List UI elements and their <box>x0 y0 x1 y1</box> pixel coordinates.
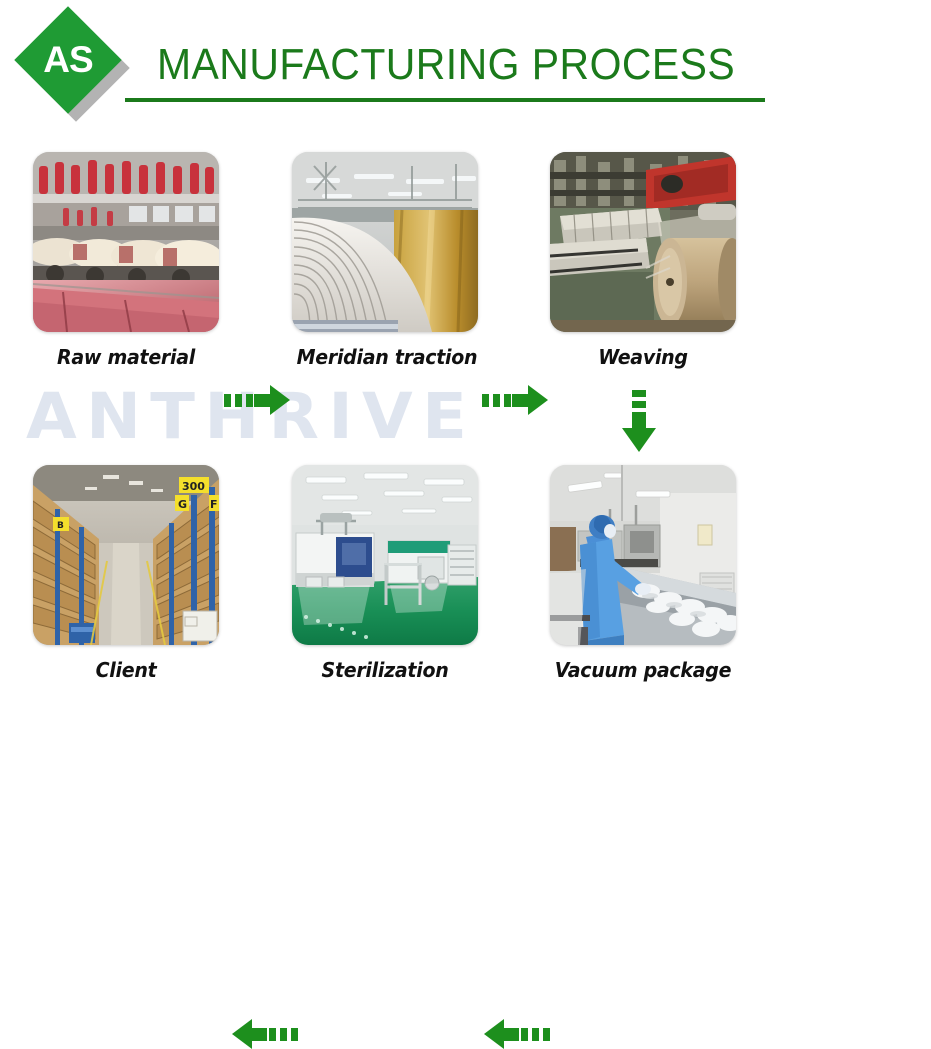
page-title: MANUFACTURING PROCESS <box>157 40 735 90</box>
yarn-spinning-machine-photo <box>33 152 219 332</box>
as-diamond-logo: AS <box>22 14 140 132</box>
process-step-vacuum-package[interactable]: Vacuum package <box>550 465 736 682</box>
arrow-dash <box>224 394 231 407</box>
svg-text:300: 300 <box>182 480 205 493</box>
fabric-drawing-roller-illustration <box>292 152 478 332</box>
arrow-dash <box>291 1028 298 1041</box>
svg-text:G: G <box>178 498 187 511</box>
arrow-dash <box>521 1028 528 1041</box>
process-step-raw-material[interactable]: Raw material <box>33 152 219 369</box>
arrow-dash <box>632 401 646 408</box>
vacuum-packing-line-illustration <box>550 465 736 645</box>
arrow-dash <box>235 394 242 407</box>
warehouse-aisle-photo: B 300 G <box>33 465 219 645</box>
process-step-sterilization[interactable]: Sterilization <box>292 465 478 682</box>
process-step-weaving[interactable]: Weaving <box>550 152 736 369</box>
weaving-loom-illustration <box>550 152 736 332</box>
arrow-right-icon <box>482 385 548 415</box>
arrow-left-icon <box>484 1019 550 1049</box>
page-header: AS MANUFACTURING PROCESS <box>0 0 931 140</box>
arrow-dash <box>482 394 489 407</box>
svg-text:F: F <box>210 498 218 511</box>
arrow-head <box>528 385 548 415</box>
arrow-dash <box>532 1028 539 1041</box>
arrow-dash <box>543 1028 550 1041</box>
step-label: Raw material <box>38 345 215 369</box>
arrow-head <box>232 1019 252 1049</box>
step-label: Meridian traction <box>297 345 474 369</box>
process-step-client[interactable]: B 300 G <box>33 465 219 682</box>
step-label: Weaving <box>555 345 732 369</box>
arrow-head <box>484 1019 504 1049</box>
arrow-dash <box>280 1028 287 1041</box>
svg-text:B: B <box>57 521 64 531</box>
arrow-dash <box>246 394 253 407</box>
weaving-loom-photo <box>550 152 736 332</box>
process-step-meridian-traction[interactable]: Meridian traction <box>292 152 478 369</box>
title-underline-rule <box>125 98 765 102</box>
arrow-dash <box>493 394 500 407</box>
vacuum-packing-line-photo <box>550 465 736 645</box>
fabric-drawing-roller-photo <box>292 152 478 332</box>
step-label: Vacuum package <box>555 658 732 682</box>
cleanroom-sterilizer-illustration <box>292 465 478 645</box>
arrow-down-icon <box>622 390 656 452</box>
cleanroom-sterilizer-photo <box>292 465 478 645</box>
step-label: Sterilization <box>297 658 474 682</box>
warehouse-aisle-illustration: B 300 G <box>33 465 219 645</box>
arrow-dash <box>632 390 646 397</box>
arrow-left-icon <box>232 1019 298 1049</box>
arrow-head <box>270 385 290 415</box>
process-row-top: Raw material <box>0 152 931 382</box>
arrow-dash <box>269 1028 276 1041</box>
arrow-right-icon <box>224 385 290 415</box>
arrow-dash <box>504 394 511 407</box>
arrow-shaft <box>251 1028 267 1041</box>
step-label: Client <box>38 658 215 682</box>
process-row-bottom: B 300 G <box>0 465 931 695</box>
yarn-spinning-machine-illustration <box>33 152 219 332</box>
anthrive-watermark: ANTHRIVE <box>26 382 650 452</box>
arrow-head <box>622 428 656 452</box>
arrow-shaft <box>503 1028 519 1041</box>
logo-text: AS <box>22 40 114 80</box>
